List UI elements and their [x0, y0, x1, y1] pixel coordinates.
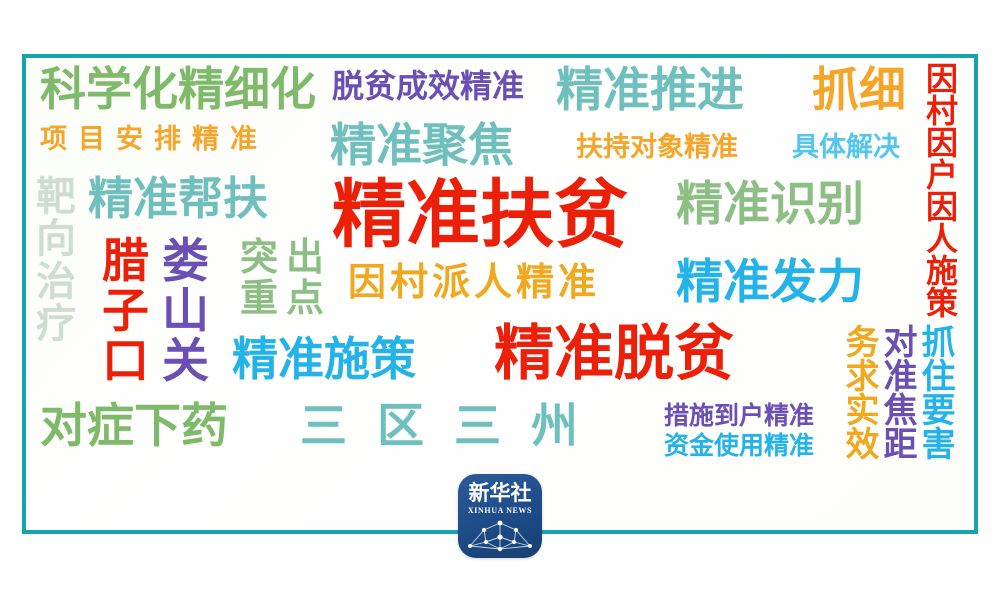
cloud-word: 因村派人精准	[348, 264, 600, 302]
logo-chinese-text: 新华社	[458, 483, 542, 504]
cloud-word: 科学化精细化	[40, 66, 316, 112]
logo-english-text: XINHUA NEWS	[458, 507, 542, 515]
cloud-word: 资金使用精准	[664, 434, 814, 459]
cloud-word: 精准施策	[232, 336, 416, 382]
cloud-word: 精准扶贫	[332, 178, 628, 252]
cloud-word: 脱贫成效精准	[332, 70, 524, 102]
cloud-word: 腊 子 口	[102, 236, 149, 385]
xinhua-news-logo: 新华社 XINHUA NEWS	[458, 474, 542, 558]
cloud-word: 靶 向 治 疗	[36, 176, 76, 346]
cloud-word: 娄 山 关	[162, 236, 209, 385]
cloud-word: 精准识别	[676, 180, 864, 227]
cloud-word: 精准聚焦	[330, 122, 514, 168]
cloud-word: 扶持对象精准	[576, 134, 738, 161]
cloud-word: 措施到户精准	[664, 404, 814, 429]
cloud-word: 三区三州	[300, 402, 608, 449]
cloud-word: 精准帮扶	[88, 176, 268, 221]
cloud-word: 对症下药	[40, 402, 228, 449]
cloud-word: 精准脱贫	[494, 324, 734, 384]
cloud-word: 具体解决	[792, 134, 900, 161]
cloud-word: 务求实效	[842, 324, 876, 463]
cloud-word: 抓细	[812, 66, 906, 113]
cloud-word: 精准推进	[556, 66, 744, 113]
cloud-word: 突出 重点	[240, 238, 332, 320]
cloud-word: 抓住要害	[918, 324, 952, 463]
network-graphic-icon	[464, 516, 536, 556]
teal-frame-border: 科学化精细化脱贫成效精准精准推进抓细项目安排精准精准聚焦扶持对象精准具体解决因村…	[22, 54, 978, 534]
cloud-word: 因村因户因人施策	[924, 62, 956, 323]
word-cloud-canvas: 科学化精细化脱贫成效精准精准推进抓细项目安排精准精准聚焦扶持对象精准具体解决因村…	[0, 0, 1000, 596]
cloud-word: 精准发力	[676, 258, 864, 305]
cloud-word: 对准焦距	[880, 324, 914, 463]
cloud-word: 项目安排精准	[40, 126, 268, 153]
